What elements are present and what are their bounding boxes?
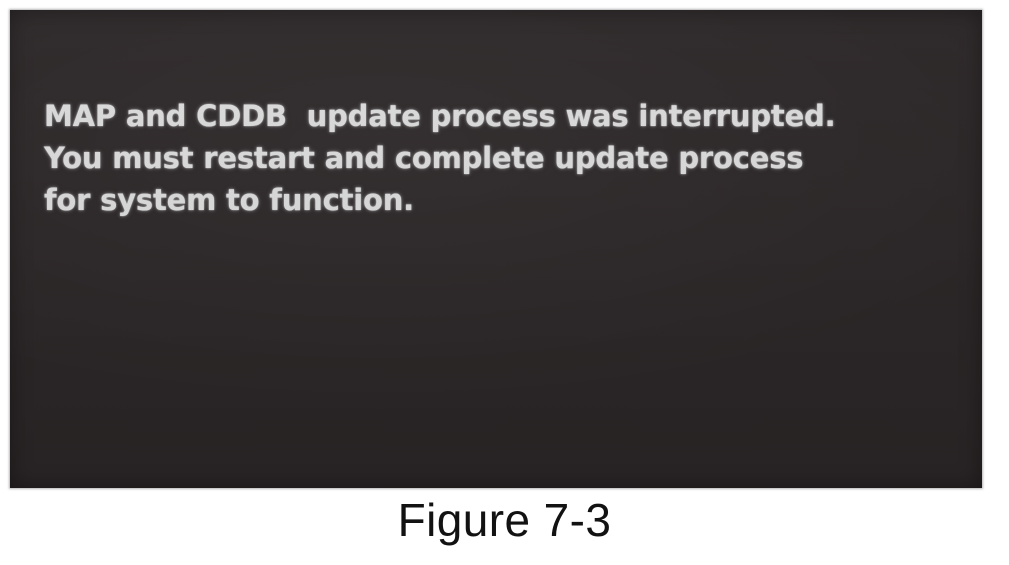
figure-caption: Figure 7-3 [0,492,1009,548]
message-line-3: for system to function. [44,179,954,221]
message-line-1: MAP and CDDB update process was interrup… [44,95,954,137]
message-line-2: You must restart and complete update pro… [44,137,954,179]
update-interrupted-message: MAP and CDDB update process was interrup… [44,95,954,221]
figure-root: MAP and CDDB update process was interrup… [0,0,1009,565]
system-message-screen: MAP and CDDB update process was interrup… [10,10,982,488]
